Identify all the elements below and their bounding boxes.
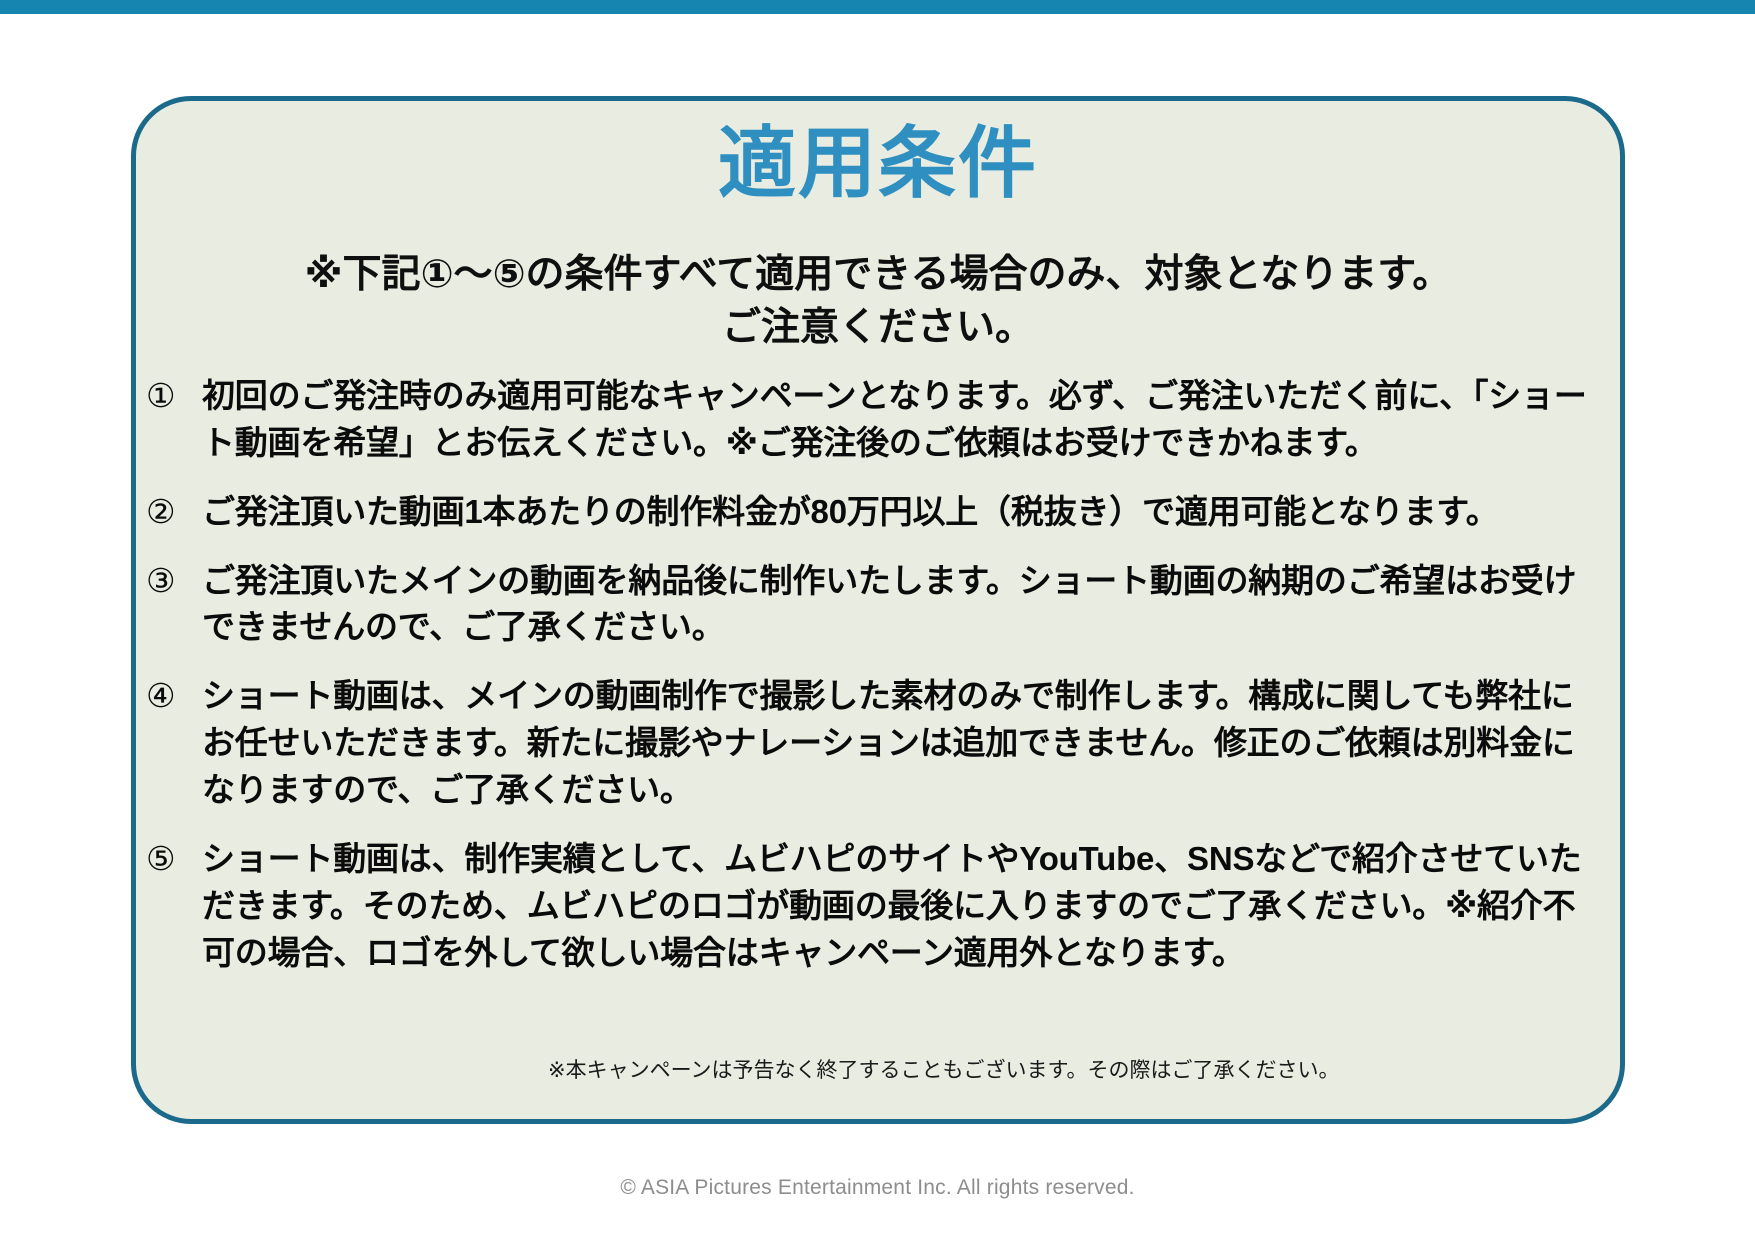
condition-item-1: ① 初回のご発注時のみ適用可能なキャンペーンとなります。必ず、ご発注いただく前に… xyxy=(146,373,1620,467)
condition-marker: ③ xyxy=(146,558,202,605)
condition-item-4: ④ ショート動画は、メインの動画制作で撮影した素材のみで制作します。構成に関して… xyxy=(146,673,1620,814)
condition-item-3: ③ ご発注頂いたメインの動画を納品後に制作いたします。ショート動画の納期のご希望… xyxy=(146,558,1620,652)
condition-marker: ⑤ xyxy=(146,836,202,883)
top-accent-bar xyxy=(0,0,1755,14)
subtitle-block: ※下記①〜⑤の条件すべて適用できる場合のみ、対象となります。 ご注意ください。 xyxy=(136,249,1620,354)
page-title: 適用条件 xyxy=(136,119,1620,209)
conditions-card: 適用条件 ※下記①〜⑤の条件すべて適用できる場合のみ、対象となります。 ご注意く… xyxy=(131,96,1625,1124)
copyright-notice: © ASIA Pictures Entertainment Inc. All r… xyxy=(0,1176,1755,1200)
conditions-list: ① 初回のご発注時のみ適用可能なキャンペーンとなります。必ず、ご発注いただく前に… xyxy=(146,373,1620,998)
condition-marker: ① xyxy=(146,373,202,420)
subtitle-line-2: ご注意ください。 xyxy=(136,302,1620,355)
condition-marker: ② xyxy=(146,489,202,536)
condition-item-2: ② ご発注頂いた動画1本あたりの制作料金が80万円以上（税抜き）で適用可能となり… xyxy=(146,489,1620,536)
condition-item-5: ⑤ ショート動画は、制作実績として、ムビハピのサイトやYouTube、SNSなど… xyxy=(146,836,1620,977)
condition-marker: ④ xyxy=(146,673,202,720)
condition-text: 初回のご発注時のみ適用可能なキャンペーンとなります。必ず、ご発注いただく前に、「… xyxy=(202,373,1620,467)
condition-text: ご発注頂いたメインの動画を納品後に制作いたします。ショート動画の納期のご希望はお… xyxy=(202,558,1620,652)
condition-text: ご発注頂いた動画1本あたりの制作料金が80万円以上（税抜き）で適用可能となります… xyxy=(202,489,1620,536)
subtitle-line-1: ※下記①〜⑤の条件すべて適用できる場合のみ、対象となります。 xyxy=(136,249,1620,302)
campaign-footnote: ※本キャンペーンは予告なく終了することもございます。その際はご了承ください。 xyxy=(548,1055,1468,1087)
condition-text: ショート動画は、制作実績として、ムビハピのサイトやYouTube、SNSなどで紹… xyxy=(202,836,1620,977)
condition-text: ショート動画は、メインの動画制作で撮影した素材のみで制作します。構成に関しても弊… xyxy=(202,673,1620,814)
